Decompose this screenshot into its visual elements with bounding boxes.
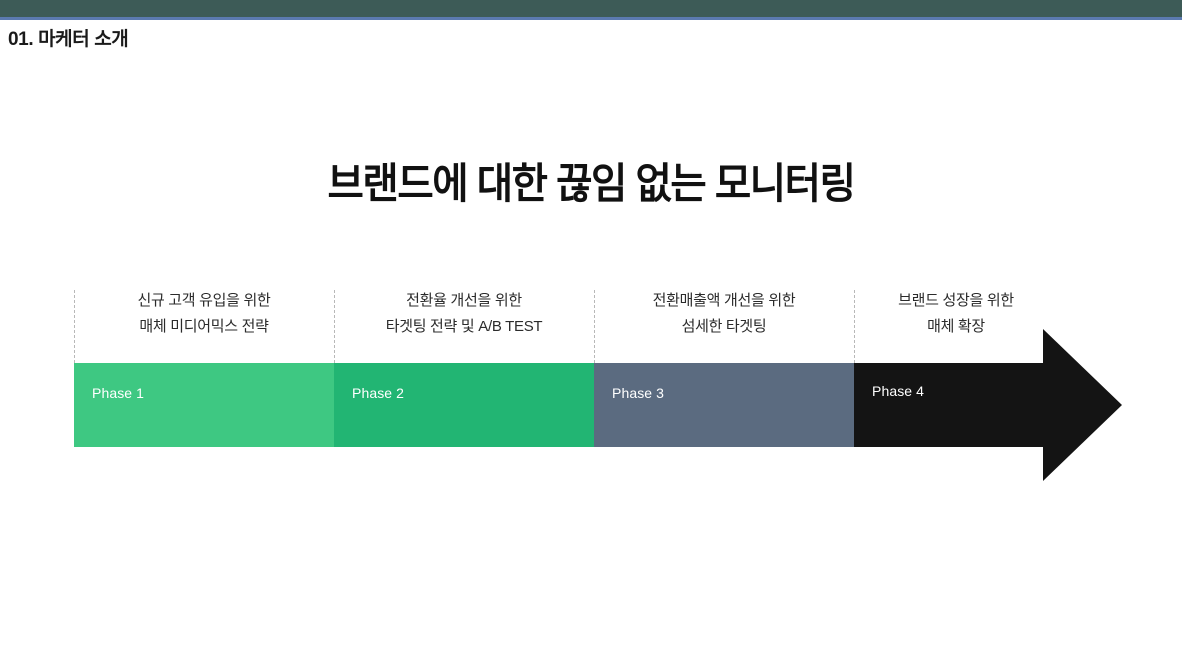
phase-bar-track: Phase 1 Phase 2 Phase 3 Phase 4 (0, 363, 1182, 447)
phase-caption-3-line1: 전환매출액 개선을 위한 (594, 288, 854, 314)
phase-caption-3: 전환매출액 개선을 위한 섬세한 타겟팅 (594, 288, 854, 340)
phase-bar-3-label: Phase 3 (612, 385, 664, 401)
section-label: 01. 마케터 소개 (8, 24, 128, 51)
phase-bar-1-label: Phase 1 (92, 385, 144, 401)
phase-bar-4: Phase 4 (854, 363, 1122, 447)
phase-caption-2: 전환율 개선을 위한 타겟팅 전략 및 A/B TEST (334, 288, 594, 340)
phase-bar-3: Phase 3 (594, 363, 854, 447)
phase-bar-2-label: Phase 2 (352, 385, 404, 401)
slide-top-accent-line (0, 17, 1182, 20)
phase-caption-1-line2: 매체 미디어믹스 전략 (74, 314, 334, 340)
phase-bar-1: Phase 1 (74, 363, 334, 447)
phase-caption-4-line1: 브랜드 성장을 위한 (854, 288, 1058, 314)
phase-roadmap-diagram: 신규 고객 유입을 위한 매체 미디어믹스 전략 전환율 개선을 위한 타겟팅 … (0, 262, 1182, 492)
right-arrow-icon (854, 329, 1122, 481)
slide-top-banner (0, 0, 1182, 17)
phase-caption-2-line1: 전환율 개선을 위한 (334, 288, 594, 314)
phase-bar-4-label: Phase 4 (872, 383, 924, 399)
phase-caption-1-line1: 신규 고객 유입을 위한 (74, 288, 334, 314)
phase-bar-2: Phase 2 (334, 363, 594, 447)
phase-caption-3-line2: 섬세한 타겟팅 (594, 314, 854, 340)
slide-headline: 브랜드에 대한 끊임 없는 모니터링 (35, 150, 1146, 211)
phase-caption-1: 신규 고객 유입을 위한 매체 미디어믹스 전략 (74, 288, 334, 340)
phase-caption-2-line2: 타겟팅 전략 및 A/B TEST (334, 314, 594, 340)
